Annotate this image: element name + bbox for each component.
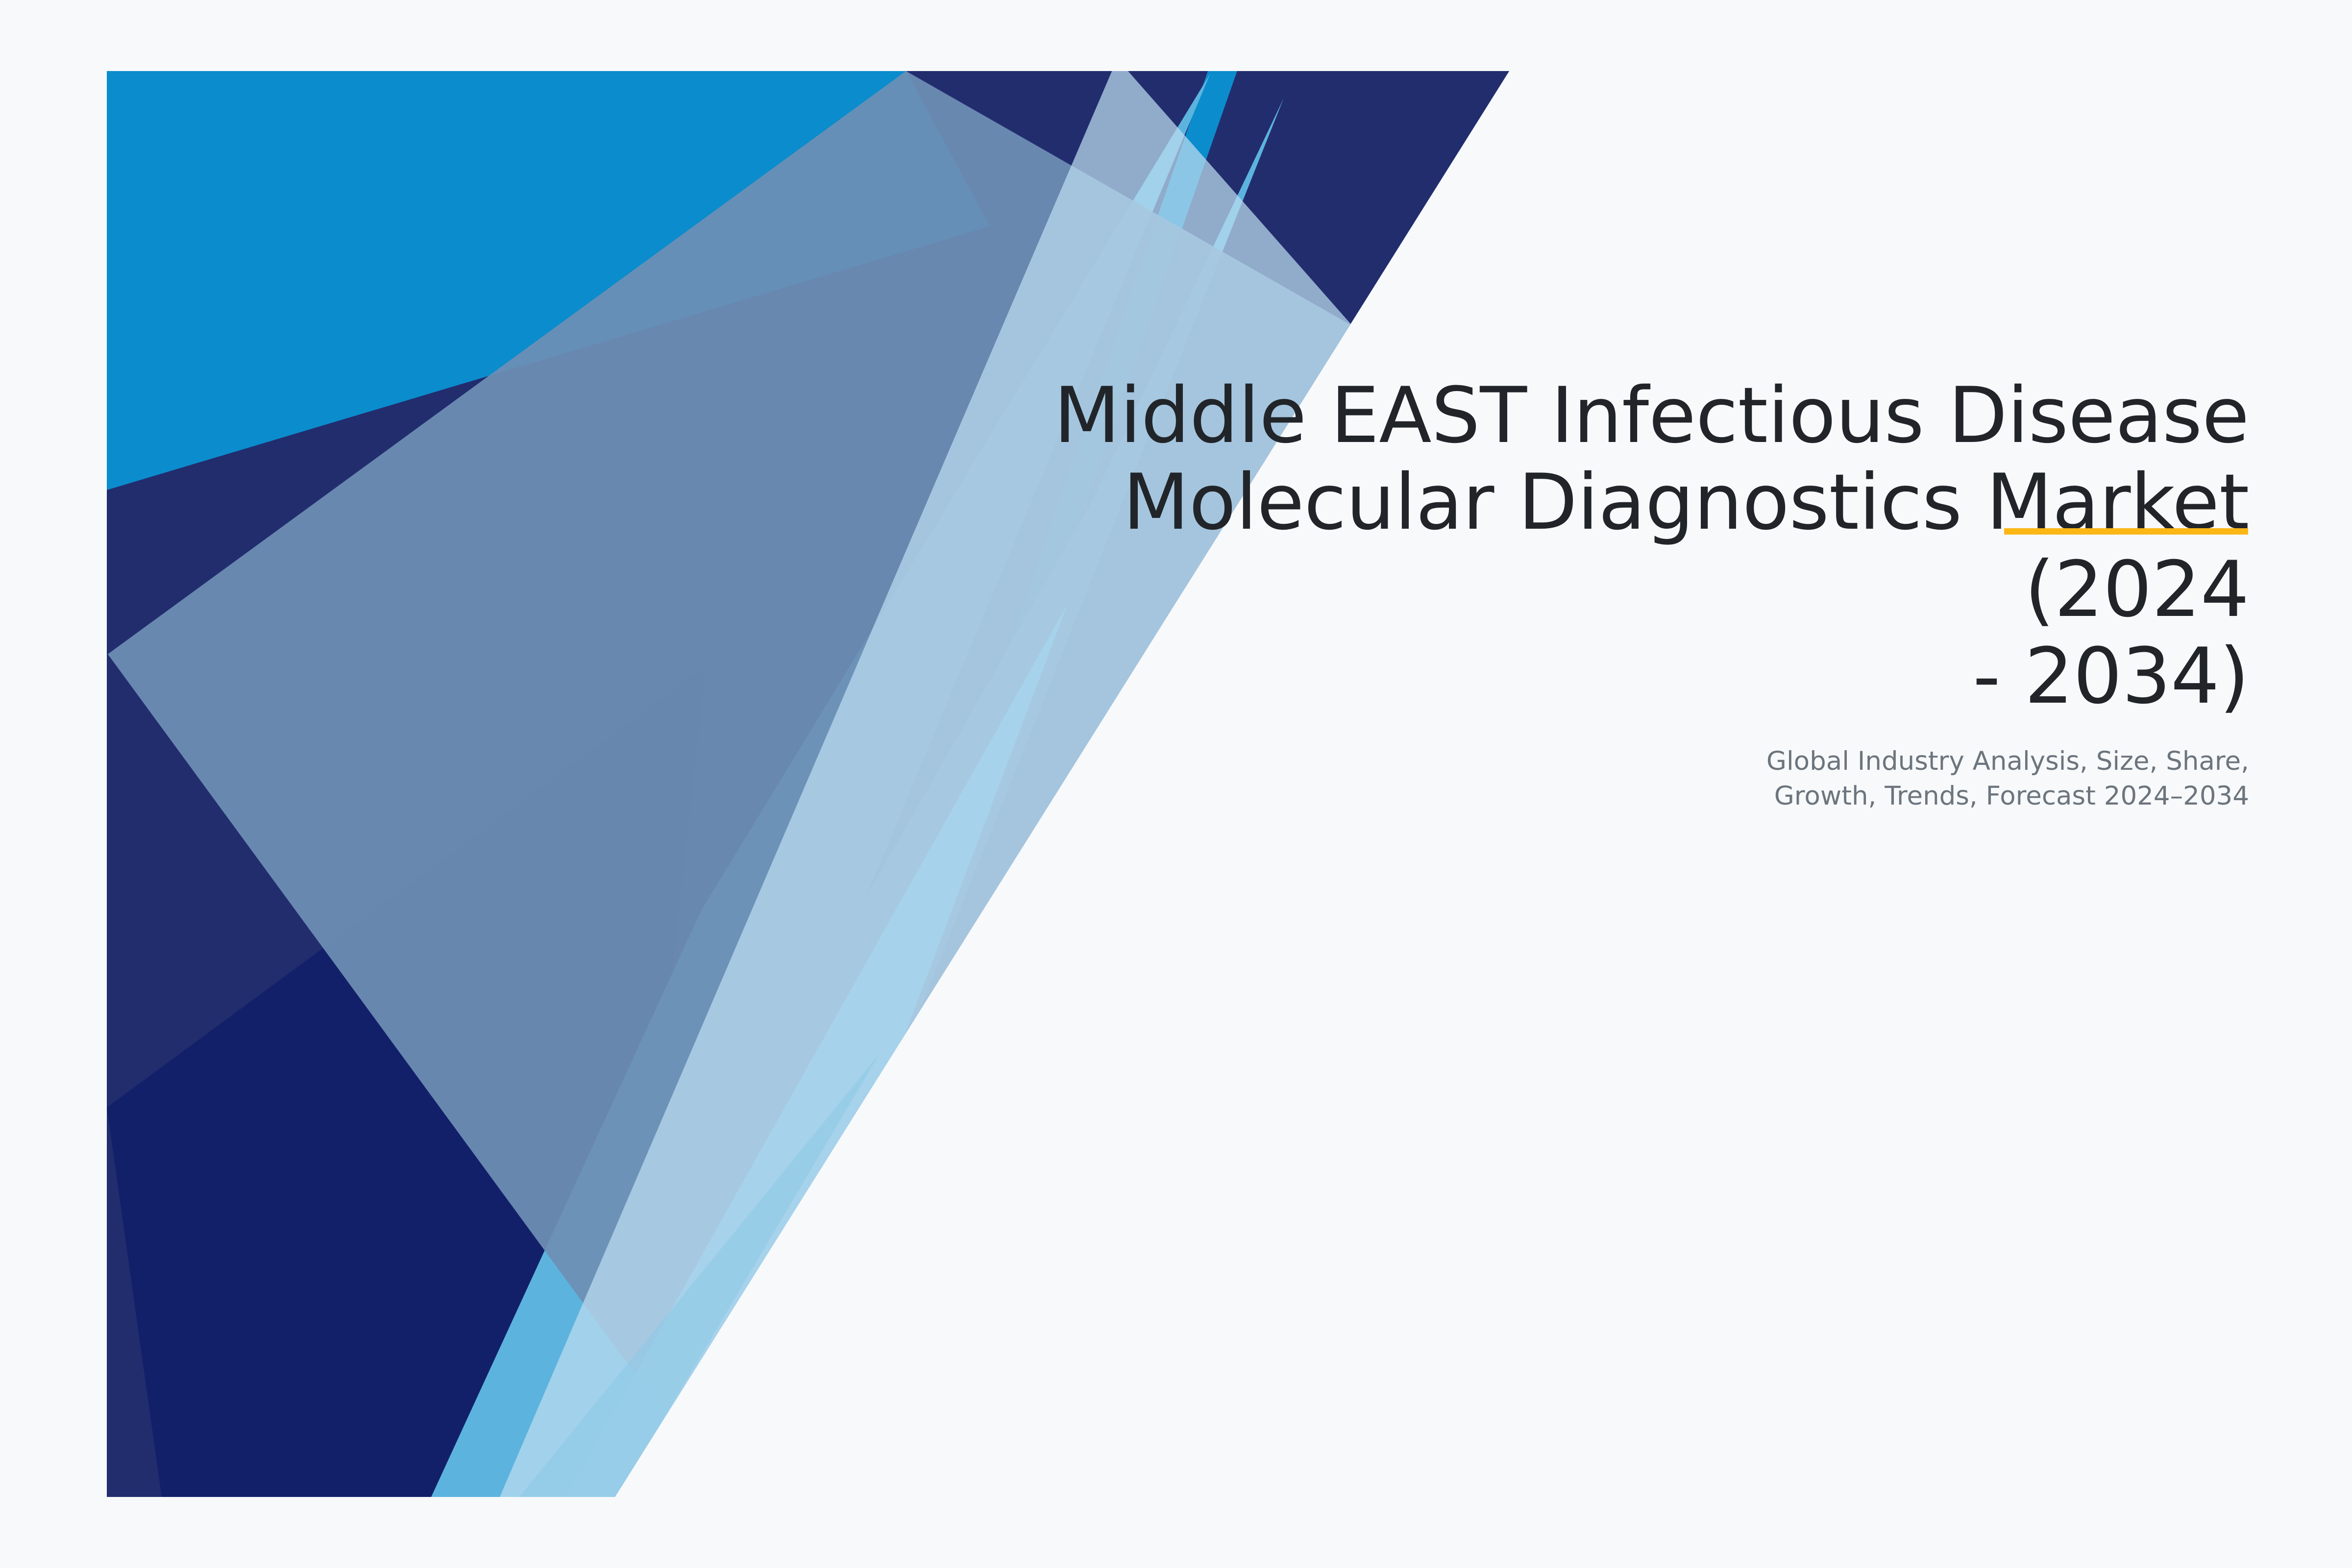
shape-deep-navy-wedge (107, 666, 706, 1497)
page-subtitle: Global Industry Analysis, Size, Share,Gr… (921, 720, 2249, 813)
subtitle-line-1: Global Industry Analysis, Size, Share, (1766, 746, 2249, 776)
page-title: Middle EAST Infectious DiseaseMolecular … (921, 372, 2249, 720)
title-line-3: - 2034) (1973, 632, 2249, 721)
title-line-1: Middle EAST Infectious Disease (1053, 371, 2249, 461)
shape-light-blue-notch (519, 1053, 880, 1497)
title-line-2: Molecular Diagnostics Market (2024 (1123, 458, 2249, 634)
subtitle-line-2: Growth, Trends, Forecast 2024–2034 (1774, 781, 2249, 811)
cover-text-block: Middle EAST Infectious DiseaseMolecular … (921, 372, 2249, 813)
shape-deep-navy-spike (314, 666, 706, 1497)
title-accent-underline (2004, 528, 2248, 535)
cover-page: Middle EAST Infectious DiseaseMolecular … (0, 0, 2352, 1568)
